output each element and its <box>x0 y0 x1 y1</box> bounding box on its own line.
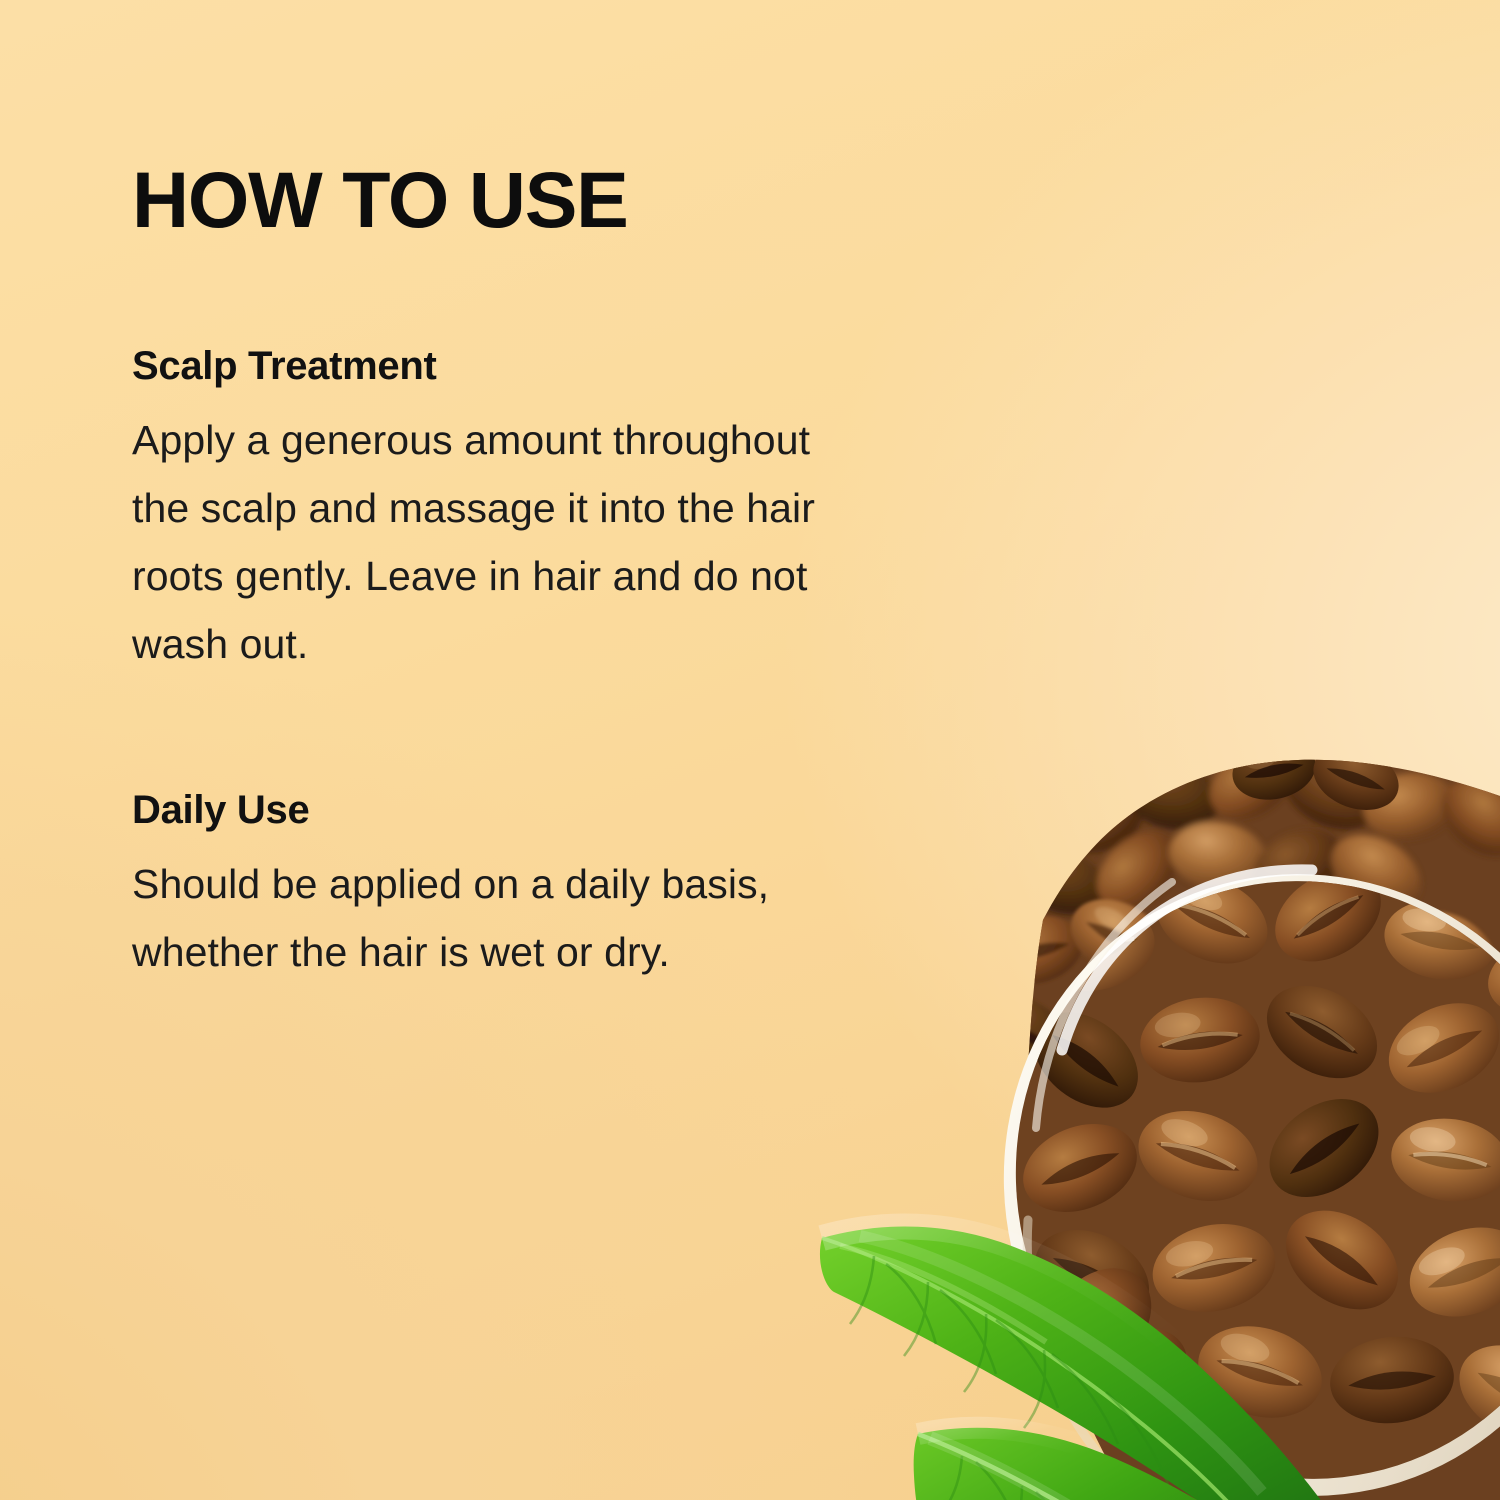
body-line: wash out. <box>132 610 1032 678</box>
body-line: whether the hair is wet or dry. <box>132 918 1032 986</box>
section-body-daily-use: Should be applied on a daily basis, whet… <box>132 850 1032 986</box>
poster-canvas: HOW TO USE Scalp Treatment Apply a gener… <box>0 0 1500 1500</box>
body-line: roots gently. Leave in hair and do not <box>132 542 1032 610</box>
body-line: the scalp and massage it into the hair <box>132 474 1032 542</box>
text-content: HOW TO USE Scalp Treatment Apply a gener… <box>132 160 1052 986</box>
section-scalp-treatment: Scalp Treatment Apply a generous amount … <box>132 344 1052 678</box>
body-line: Apply a generous amount throughout <box>132 406 1032 474</box>
body-line: Should be applied on a daily basis, <box>132 850 1032 918</box>
section-daily-use: Daily Use Should be applied on a daily b… <box>132 788 1052 986</box>
section-heading-daily-use: Daily Use <box>132 788 1052 832</box>
page-title: HOW TO USE <box>132 160 1052 239</box>
section-body-scalp-treatment: Apply a generous amount throughout the s… <box>132 406 1032 678</box>
section-heading-scalp-treatment: Scalp Treatment <box>132 344 1052 388</box>
